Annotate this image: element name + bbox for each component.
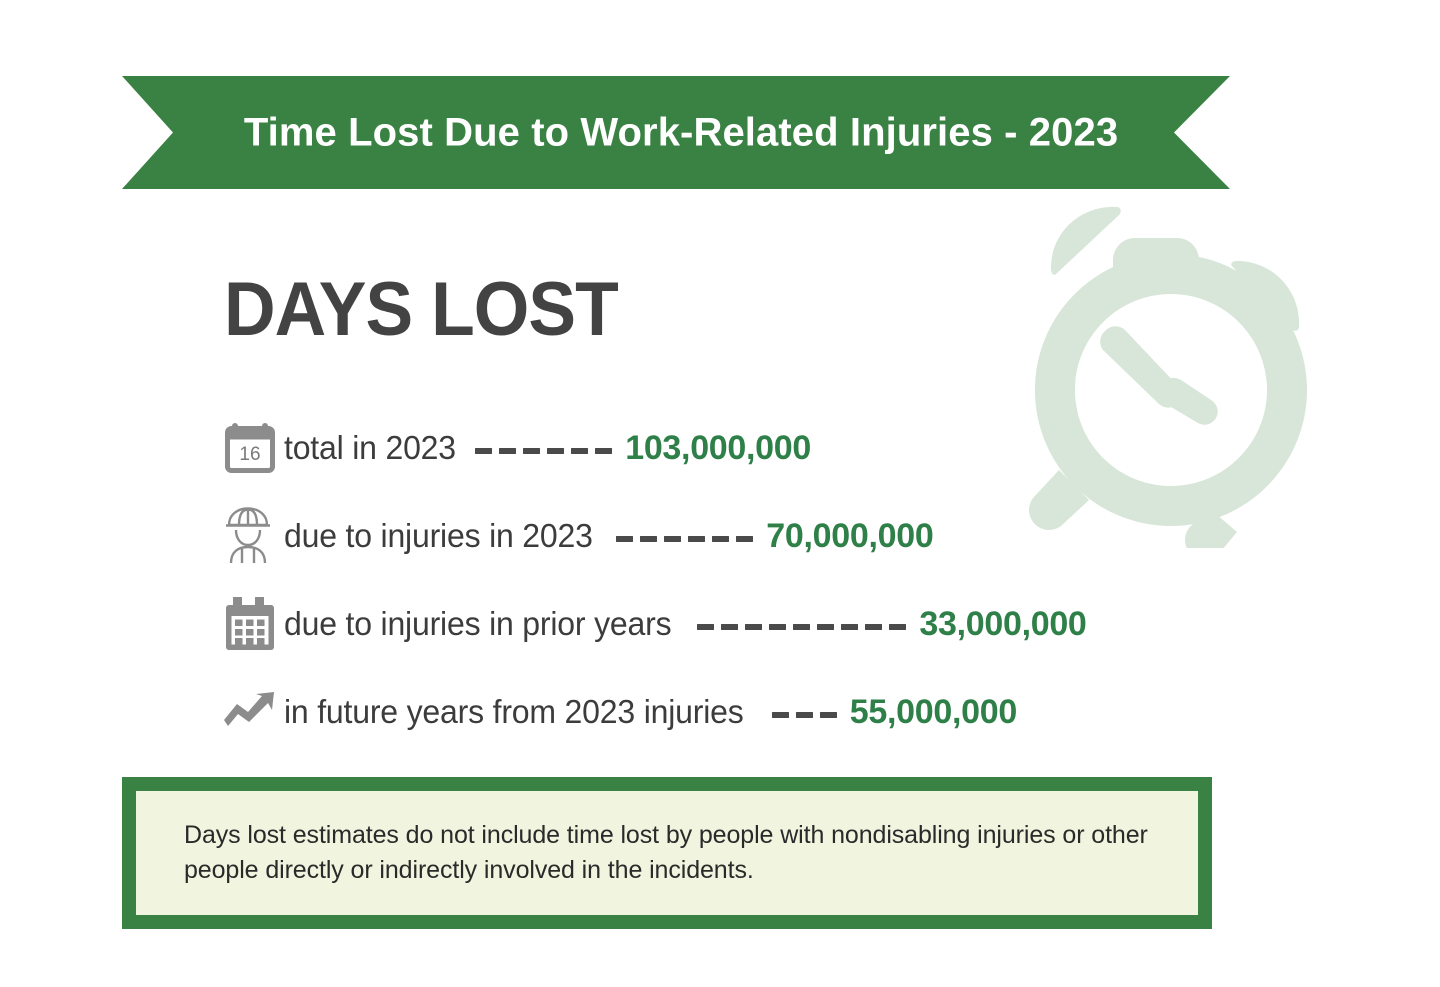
dash: [769, 624, 786, 630]
footnote-inner: Days lost estimates do not include time …: [136, 791, 1198, 915]
stat-label: due to injuries in 2023: [284, 517, 593, 555]
worker-hardhat-icon: [222, 507, 284, 565]
dash: [640, 536, 657, 542]
dash-connector: [616, 531, 753, 542]
dash: [793, 624, 810, 630]
calendar-date-icon: 16: [222, 419, 284, 477]
dash: [688, 536, 705, 542]
banner-shape: Time Lost Due to Work-Related Injuries -…: [122, 76, 1230, 189]
dash: [697, 624, 714, 630]
banner-title: Time Lost Due to Work-Related Injuries -…: [122, 110, 1230, 155]
footnote-text: Days lost estimates do not include time …: [184, 818, 1150, 888]
stat-row: due to injuries in prior years 33,000,00…: [222, 580, 1222, 668]
stat-value: 55,000,000: [850, 693, 1017, 732]
stat-label: in future years from 2023 injuries: [284, 693, 744, 731]
dash: [475, 448, 492, 454]
dash: [820, 712, 837, 718]
dash: [664, 536, 681, 542]
dash: [571, 448, 588, 454]
stat-value: 103,000,000: [625, 429, 811, 468]
trending-up-icon: [222, 683, 284, 741]
dash: [721, 624, 738, 630]
stats-list: 16 total in 2023 103,000,000: [222, 404, 1222, 756]
dash: [745, 624, 762, 630]
dash-connector: [475, 443, 612, 454]
dash-connector: [772, 707, 837, 718]
dash: [865, 624, 882, 630]
dash: [841, 624, 858, 630]
dash: [796, 712, 813, 718]
stat-label: total in 2023: [284, 429, 456, 467]
stat-row: due to injuries in 2023 70,000,000: [222, 492, 1222, 580]
dash: [616, 536, 633, 542]
dash: [712, 536, 729, 542]
dash: [499, 448, 516, 454]
stat-label: due to injuries in prior years: [284, 605, 671, 643]
stat-row: 16 total in 2023 103,000,000: [222, 404, 1222, 492]
calendar-grid-icon: [222, 595, 284, 653]
title-banner: Time Lost Due to Work-Related Injuries -…: [122, 76, 1230, 189]
dash-connector: [697, 619, 906, 630]
stat-value: 33,000,000: [919, 605, 1086, 644]
dash: [889, 624, 906, 630]
infographic-page: Time Lost Due to Work-Related Injuries -…: [0, 0, 1440, 987]
footnote-box: Days lost estimates do not include time …: [122, 777, 1212, 929]
dash: [817, 624, 834, 630]
page-title: DAYS LOST: [224, 272, 618, 348]
svg-text:16: 16: [239, 444, 260, 465]
dash: [736, 536, 753, 542]
dash: [523, 448, 540, 454]
dash: [772, 712, 789, 718]
dash: [595, 448, 612, 454]
dash: [547, 448, 564, 454]
stat-value: 70,000,000: [766, 517, 933, 556]
stat-row: in future years from 2023 injuries 55,00…: [222, 668, 1222, 756]
